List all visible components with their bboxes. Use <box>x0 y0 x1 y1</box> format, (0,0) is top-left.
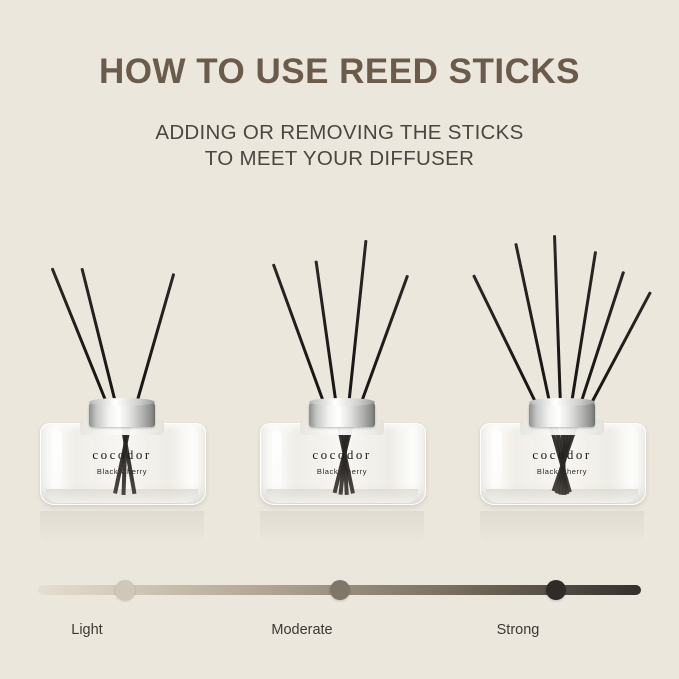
submerged-sticks <box>480 423 644 503</box>
brand-label: cocodor <box>40 447 204 463</box>
subtitle-line-1: ADDING OR REMOVING THE STICKS <box>155 121 523 144</box>
cap-top-rim <box>309 398 375 406</box>
diffuser-moderate: cocodor Black Cherry <box>242 205 442 565</box>
intensity-label-light: Light <box>27 622 147 638</box>
scent-label: Black Cherry <box>480 467 644 476</box>
scent-label: Black Cherry <box>260 467 424 476</box>
bottle-reflection <box>260 511 424 545</box>
scent-label: Black Cherry <box>40 467 204 476</box>
diffuser-bottle: cocodor Black Cherry <box>260 401 424 513</box>
page-title: HOW TO USE REED STICKS <box>0 52 679 92</box>
subtitle-line-2: TO MEET YOUR DIFFUSER <box>0 146 679 172</box>
diffuser-strong: cocodor Black Cherry <box>462 205 662 565</box>
promo-infographic: HOW TO USE REED STICKS ADDING OR REMOVIN… <box>0 0 679 679</box>
submerged-sticks <box>260 423 424 503</box>
diffuser-bottle: cocodor Black Cherry <box>40 401 204 513</box>
diffuser-light: cocodor Black Cherry <box>22 205 222 565</box>
intensity-label-moderate: Moderate <box>242 622 362 638</box>
scale-marker-strong <box>546 580 566 600</box>
brand-label: cocodor <box>480 447 644 463</box>
diffuser-bottle: cocodor Black Cherry <box>480 401 644 513</box>
bottle-reflection <box>480 511 644 545</box>
submerged-sticks <box>40 423 204 503</box>
intensity-label-strong: Strong <box>458 622 578 638</box>
page-subtitle: ADDING OR REMOVING THE STICKS TO MEET YO… <box>0 120 679 172</box>
intensity-labels: Light Moderate Strong <box>0 622 679 644</box>
cap-top-rim <box>529 398 595 406</box>
bottle-reflection <box>40 511 204 545</box>
cap-top-rim <box>89 398 155 406</box>
intensity-scale <box>38 585 641 595</box>
scale-marker-light <box>115 580 135 600</box>
scale-marker-moderate <box>330 580 350 600</box>
brand-label: cocodor <box>260 447 424 463</box>
diffuser-row: cocodor Black Cherry <box>0 205 679 565</box>
